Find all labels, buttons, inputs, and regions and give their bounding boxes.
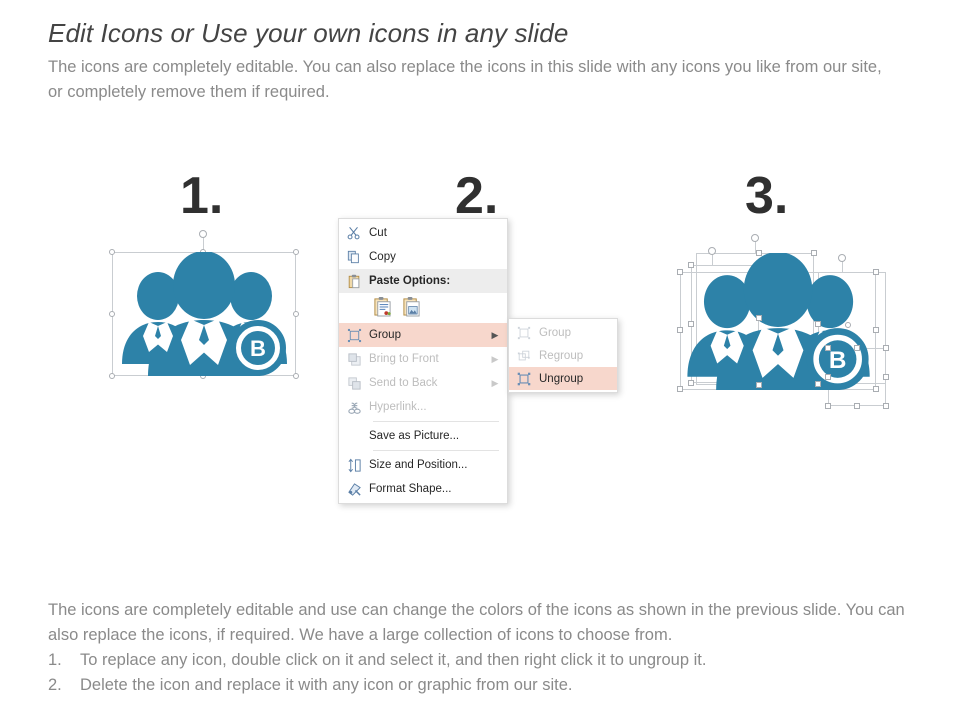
resize-handle-se[interactable]: [293, 373, 299, 379]
team-people-glyph: B: [118, 252, 290, 376]
menu-item-label: Size and Position...: [369, 459, 501, 471]
menu-item-label: Send to Back: [369, 377, 489, 389]
resize-handle-e[interactable]: [293, 311, 299, 317]
resize-handle-badge[interactable]: [854, 403, 860, 409]
menu-item-send-to-back[interactable]: Send to Back ▶: [339, 371, 507, 395]
group-icon: [509, 321, 539, 345]
resize-handle-badge[interactable]: [825, 403, 831, 409]
menu-item-label: Cut: [369, 227, 501, 239]
list-item: 2. Delete the icon and replace it with a…: [48, 673, 938, 698]
menu-separator: [373, 450, 499, 451]
menu-item-hyperlink[interactable]: Hyperlink...: [339, 395, 507, 419]
regroup-icon: [509, 344, 539, 368]
menu-item-bring-to-front[interactable]: Bring to Front ▶: [339, 347, 507, 371]
resize-handle[interactable]: [873, 327, 879, 333]
format-shape-icon: [339, 477, 369, 501]
resize-handle[interactable]: [677, 386, 683, 392]
team-people-icon[interactable]: B: [118, 252, 290, 376]
page-title: Edit Icons or Use your own icons in any …: [48, 18, 568, 49]
context-menu[interactable]: Cut Copy Paste Options:: [338, 218, 508, 504]
resize-handle-badge[interactable]: [825, 345, 831, 351]
menu-item-label: Paste Options:: [369, 275, 501, 287]
step-number-1: 1.: [180, 170, 223, 222]
resize-handle-badge[interactable]: [883, 374, 889, 380]
resize-handle-w[interactable]: [109, 311, 115, 317]
list-item-text: To replace any icon, double click on it …: [80, 648, 706, 673]
list-item: 1. To replace any icon, double click on …: [48, 648, 938, 673]
list-marker: 2.: [48, 673, 80, 698]
chevron-right-icon: ▶: [489, 378, 501, 389]
rotation-handle-center[interactable]: [751, 234, 759, 242]
resize-handle[interactable]: [677, 327, 683, 333]
menu-item-size-and-position[interactable]: Size and Position...: [339, 453, 507, 477]
resize-handle-nw[interactable]: [109, 249, 115, 255]
resize-handle[interactable]: [873, 269, 879, 275]
slide-canvas: Edit Icons or Use your own icons in any …: [0, 0, 960, 720]
resize-handle-sw[interactable]: [109, 373, 115, 379]
clipboard-icon: [339, 269, 369, 293]
resize-handle[interactable]: [677, 269, 683, 275]
ungroup-icon: [509, 367, 539, 391]
hyperlink-icon: [339, 395, 369, 419]
group-submenu[interactable]: Group Regroup Ungroup: [508, 318, 618, 393]
b-badge-icon: B: [808, 329, 868, 389]
resize-handle[interactable]: [756, 315, 762, 321]
list-item-text: Delete the icon and replace it with any …: [80, 673, 573, 698]
footer-list: 1. To replace any icon, double click on …: [48, 648, 938, 698]
send-to-back-icon: [339, 371, 369, 395]
page-subtitle: The icons are completely editable. You c…: [48, 55, 888, 105]
resize-handle-ne[interactable]: [293, 249, 299, 255]
resize-handle[interactable]: [688, 262, 694, 268]
svg-text:B: B: [250, 336, 266, 361]
resize-handle[interactable]: [688, 321, 694, 327]
resize-handle[interactable]: [756, 250, 762, 256]
resize-handle-badge[interactable]: [854, 345, 860, 351]
menu-item-label: Bring to Front: [369, 353, 489, 365]
paste-keep-source-formatting-icon[interactable]: [373, 296, 392, 320]
footer-text-block: The icons are completely editable and us…: [48, 598, 938, 698]
menu-item-label: Group: [369, 329, 489, 341]
resize-handle-badge[interactable]: [883, 345, 889, 351]
scissors-icon: [339, 221, 369, 245]
no-icon-placeholder: [339, 424, 369, 448]
menu-item-save-as-picture[interactable]: Save as Picture...: [339, 424, 507, 448]
resize-handle[interactable]: [873, 386, 879, 392]
menu-item-paste-options: Paste Options:: [339, 269, 507, 293]
resize-handle-badge[interactable]: [825, 374, 831, 380]
chevron-right-icon: ▶: [489, 330, 501, 341]
paste-options-row[interactable]: [339, 293, 507, 323]
resize-handle-badge[interactable]: [883, 403, 889, 409]
bring-to-front-icon: [339, 347, 369, 371]
resize-handle[interactable]: [815, 381, 821, 387]
menu-item-label: Save as Picture...: [369, 430, 501, 442]
submenu-item-label: Ungroup: [539, 373, 611, 385]
menu-item-copy[interactable]: Copy: [339, 245, 507, 269]
submenu-item-group[interactable]: Group: [509, 321, 617, 344]
copy-icon: [339, 245, 369, 269]
step-number-3: 3.: [745, 170, 788, 222]
list-marker: 1.: [48, 648, 80, 673]
paste-picture-icon[interactable]: [402, 296, 421, 320]
menu-item-cut[interactable]: Cut: [339, 221, 507, 245]
rotation-handle-badge[interactable]: [845, 322, 851, 328]
submenu-item-label: Group: [539, 327, 611, 339]
resize-handle[interactable]: [688, 380, 694, 386]
step-number-2: 2.: [455, 170, 498, 222]
submenu-item-label: Regroup: [539, 350, 611, 362]
menu-item-format-shape[interactable]: Format Shape...: [339, 477, 507, 501]
chevron-right-icon: ▶: [489, 354, 501, 365]
menu-separator: [373, 421, 499, 422]
group-icon: [339, 323, 369, 347]
menu-item-label: Hyperlink...: [369, 401, 501, 413]
menu-item-label: Copy: [369, 251, 501, 263]
resize-handle[interactable]: [756, 382, 762, 388]
resize-handle[interactable]: [815, 321, 821, 327]
menu-item-label: Format Shape...: [369, 483, 501, 495]
submenu-item-ungroup[interactable]: Ungroup: [509, 367, 617, 390]
resize-handle[interactable]: [811, 250, 817, 256]
size-position-icon: [339, 453, 369, 477]
svg-text:B: B: [829, 347, 847, 374]
rotation-handle[interactable]: [199, 230, 207, 238]
menu-item-group[interactable]: Group ▶: [339, 323, 507, 347]
footer-paragraph: The icons are completely editable and us…: [48, 598, 938, 648]
submenu-item-regroup[interactable]: Regroup: [509, 344, 617, 367]
b-badge-icon: B: [231, 321, 285, 375]
